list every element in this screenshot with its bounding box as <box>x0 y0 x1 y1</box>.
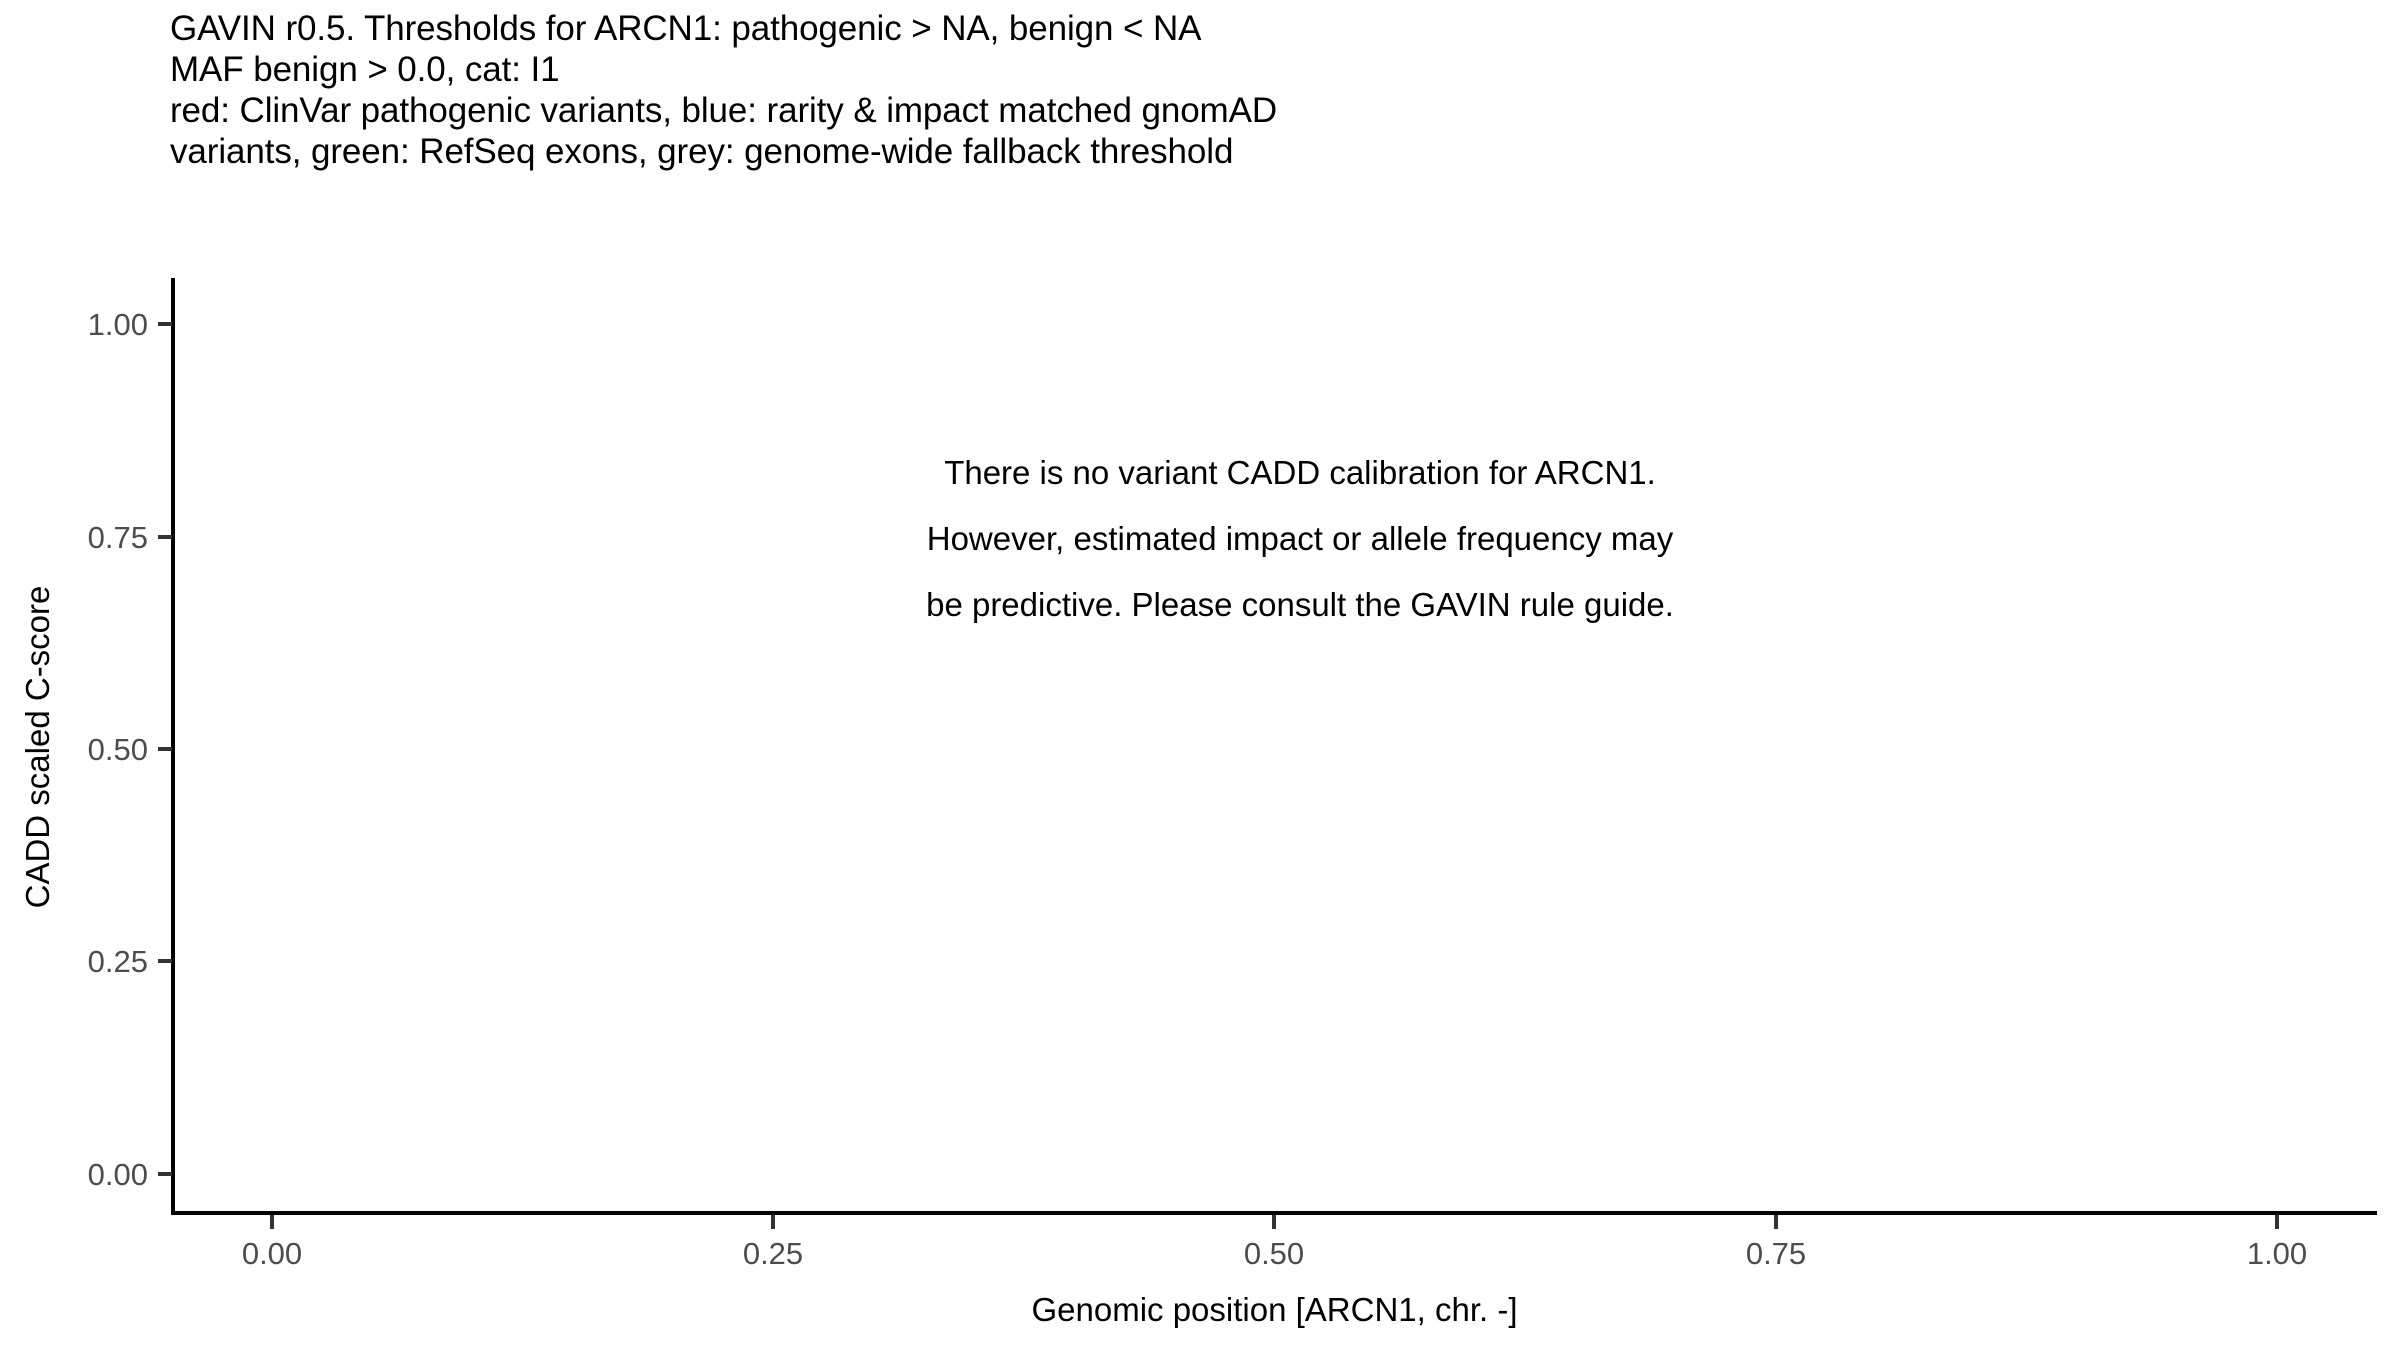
y-tick-mark-4 <box>158 322 172 326</box>
title-line-4: variants, green: RefSeq exons, grey: gen… <box>170 131 2270 172</box>
x-tick-label-2: 0.50 <box>1174 1238 1374 1269</box>
x-tick-label-4: 1.00 <box>2177 1238 2377 1269</box>
title-line-2: MAF benign > 0.0, cat: I1 <box>170 49 2270 90</box>
y-tick-label-2: 0.50 <box>0 734 148 765</box>
x-tick-mark-0 <box>270 1215 274 1229</box>
y-tick-label-3: 0.75 <box>0 522 148 553</box>
chart-canvas: GAVIN r0.5. Thresholds for ARCN1: pathog… <box>0 0 2400 1350</box>
y-tick-mark-2 <box>158 747 172 751</box>
title-line-1: GAVIN r0.5. Thresholds for ARCN1: pathog… <box>170 8 2270 49</box>
plot-annotation: There is no variant CADD calibration for… <box>300 440 2300 638</box>
x-tick-label-0: 0.00 <box>172 1238 372 1269</box>
y-tick-label-0: 0.00 <box>0 1159 148 1190</box>
y-tick-mark-0 <box>158 1172 172 1176</box>
title-line-3: red: ClinVar pathogenic variants, blue: … <box>170 90 2270 131</box>
x-axis-title: Genomic position [ARCN1, chr. -] <box>272 1290 2277 1330</box>
page-title: GAVIN r0.5. Thresholds for ARCN1: pathog… <box>170 8 2270 172</box>
annotation-line-3: be predictive. Please consult the GAVIN … <box>300 572 2300 638</box>
annotation-line-1: There is no variant CADD calibration for… <box>300 440 2300 506</box>
annotation-line-2: However, estimated impact or allele freq… <box>300 506 2300 572</box>
y-tick-label-4: 1.00 <box>0 309 148 340</box>
y-tick-mark-3 <box>158 535 172 539</box>
x-tick-mark-4 <box>2275 1215 2279 1229</box>
x-tick-mark-3 <box>1774 1215 1778 1229</box>
x-tick-label-1: 0.25 <box>673 1238 873 1269</box>
plot-panel <box>171 278 2377 1213</box>
x-tick-label-3: 0.75 <box>1676 1238 1876 1269</box>
y-tick-label-1: 0.25 <box>0 946 148 977</box>
y-tick-mark-1 <box>158 959 172 963</box>
x-tick-mark-2 <box>1272 1215 1276 1229</box>
x-tick-mark-1 <box>771 1215 775 1229</box>
